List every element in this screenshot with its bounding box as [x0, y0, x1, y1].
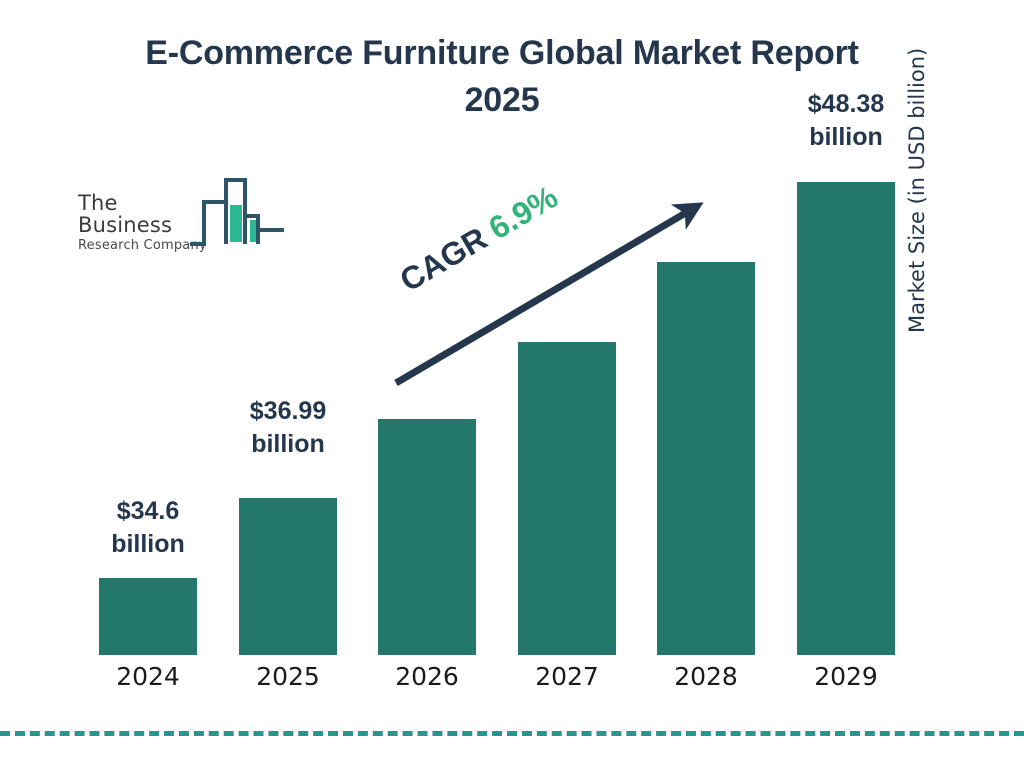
x-tick-2024: 2024: [99, 662, 197, 692]
x-tick-2029: 2029: [797, 662, 895, 692]
x-tick-2028: 2028: [657, 662, 755, 692]
bar-2029: [797, 182, 895, 655]
y-axis-label: Market Size (in USD billion): [905, 3, 929, 333]
cagr-prefix: CAGR: [394, 220, 493, 299]
cagr-annotation: CAGR 6.9%: [394, 178, 565, 299]
bar-value-2024: $34.6 billion: [68, 495, 228, 561]
x-tick-2027: 2027: [518, 662, 616, 692]
bar-2028: [657, 262, 755, 655]
bar-chart-plot-area: $34.6 billion $36.99 billion $48.38 bill…: [0, 0, 1024, 768]
bar-2024: [99, 578, 197, 655]
bar-value-2025: $36.99 billion: [208, 395, 368, 461]
cagr-value: 6.9%: [483, 178, 564, 246]
bar-2027: [518, 342, 616, 655]
chart-page: E-Commerce Furniture Global Market Repor…: [0, 0, 1024, 768]
bar-2026: [378, 419, 476, 655]
footer-divider: [0, 731, 1024, 736]
x-tick-2025: 2025: [239, 662, 337, 692]
x-tick-2026: 2026: [378, 662, 476, 692]
bar-2025: [239, 498, 337, 655]
bar-value-2029: $48.38 billion: [766, 88, 926, 154]
